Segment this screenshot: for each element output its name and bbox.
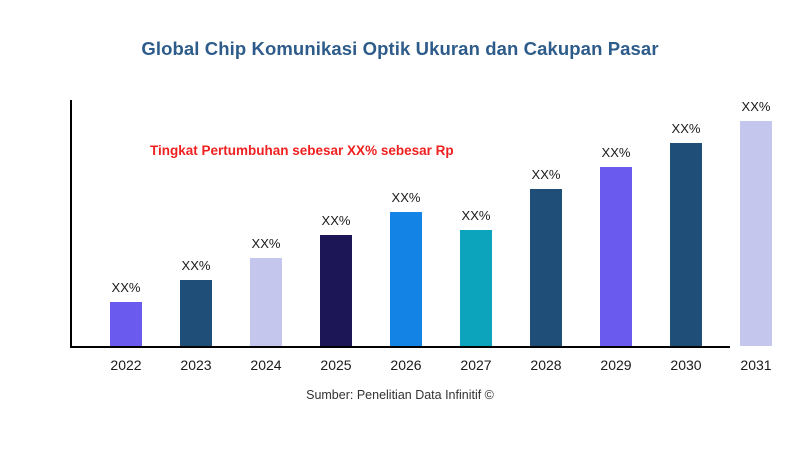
bar-2028[interactable] (530, 189, 562, 346)
bar-value-label: XX% (726, 99, 786, 114)
x-tick-2026: 2026 (372, 357, 440, 373)
bar-group: XX%2023 (180, 0, 212, 346)
bar-2024[interactable] (250, 258, 282, 346)
chart-container: Global Chip Komunikasi Optik Ukuran dan … (0, 0, 800, 450)
bar-group: XX%2031 (740, 0, 772, 346)
bar-group: XX%2022 (110, 0, 142, 346)
bar-value-label: XX% (656, 121, 716, 136)
bar-group: XX%2025 (320, 0, 352, 346)
bar-group: XX%2027 (460, 0, 492, 346)
growth-rate-annotation: Tingkat Pertumbuhan sebesar XX% sebesar … (150, 143, 454, 158)
bar-2026[interactable] (390, 212, 422, 346)
bar-value-label: XX% (96, 280, 156, 295)
bar-2025[interactable] (320, 235, 352, 346)
bar-value-label: XX% (236, 236, 296, 251)
bar-group: XX%2029 (600, 0, 632, 346)
bar-group: XX%2030 (670, 0, 702, 346)
bar-2022[interactable] (110, 302, 142, 346)
bar-value-label: XX% (376, 190, 436, 205)
x-tick-2027: 2027 (442, 357, 510, 373)
bar-group: XX%2026 (390, 0, 422, 346)
x-tick-2023: 2023 (162, 357, 230, 373)
x-tick-2025: 2025 (302, 357, 370, 373)
bar-group: XX%2024 (250, 0, 282, 346)
plot-area: XX%2022XX%2023XX%2024XX%2025XX%2026XX%20… (0, 0, 800, 450)
bar-value-label: XX% (516, 167, 576, 182)
bar-value-label: XX% (446, 208, 506, 223)
bar-group: XX%2028 (530, 0, 562, 346)
x-tick-2024: 2024 (232, 357, 300, 373)
bar-2031[interactable] (740, 121, 772, 346)
x-tick-2022: 2022 (92, 357, 160, 373)
source-note: Sumber: Penelitian Data Infinitif © (0, 388, 800, 402)
bar-2030[interactable] (670, 143, 702, 346)
x-tick-2031: 2031 (722, 357, 790, 373)
bar-value-label: XX% (166, 258, 226, 273)
bar-2027[interactable] (460, 230, 492, 346)
bar-value-label: XX% (586, 145, 646, 160)
bar-value-label: XX% (306, 213, 366, 228)
x-tick-2030: 2030 (652, 357, 720, 373)
bar-2023[interactable] (180, 280, 212, 346)
x-tick-2028: 2028 (512, 357, 580, 373)
x-tick-2029: 2029 (582, 357, 650, 373)
bar-2029[interactable] (600, 167, 632, 346)
